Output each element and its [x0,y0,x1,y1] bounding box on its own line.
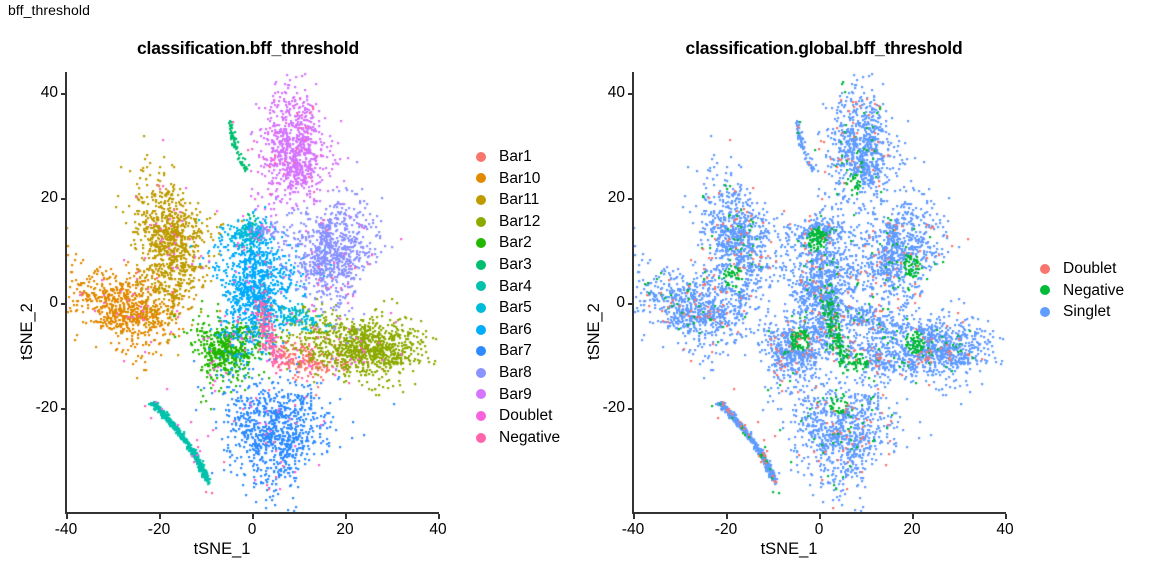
x-tick-mark [438,514,440,519]
legend-item[interactable]: Bar11 [476,189,560,211]
legend-item[interactable]: Negative [1040,280,1124,302]
plot-area-right [633,72,1005,513]
legend-color-dot [476,325,486,335]
y-axis-title-right: tSNE_2 [585,303,604,360]
legend-label: Bar1 [499,149,532,165]
legend-color-dot [476,260,486,270]
y-tick-mark [628,198,633,200]
tsne-figure: bff_threshold classification.bff_thresho… [0,0,1152,576]
panel-title-right: classification.global.bff_threshold [536,38,1112,59]
x-axis-title-right: tSNE_1 [761,540,818,559]
legend-color-dot [476,173,486,183]
x-tick-label: -20 [696,521,756,539]
y-axis-title-left: tSNE_2 [18,303,37,360]
legend-left: Bar1Bar10Bar11Bar12Bar2Bar3Bar4Bar5Bar6B… [476,146,560,448]
legend-label: Doublet [499,408,552,424]
x-tick-label: -40 [36,521,96,539]
legend-right: DoubletNegativeSinglet [1040,258,1124,323]
legend-label: Bar9 [499,387,532,403]
x-axis-title-left: tSNE_1 [194,540,251,559]
legend-item[interactable]: Bar10 [476,168,560,190]
legend-item[interactable]: Bar3 [476,254,560,276]
legend-color-dot [476,433,486,443]
legend-color-dot [476,303,486,313]
legend-label: Bar8 [499,365,532,381]
x-tick-mark [726,514,728,519]
y-tick-mark [61,198,66,200]
legend-item[interactable]: Bar9 [476,384,560,406]
y-tick-mark [61,408,66,410]
y-axis-line-right [632,72,634,514]
y-tick-label: 40 [12,84,58,102]
y-tick-mark [628,408,633,410]
y-axis-line-left [65,72,67,514]
legend-color-dot [476,368,486,378]
scatter-canvas-right [633,72,1005,513]
legend-label: Singlet [1063,304,1110,320]
legend-item[interactable]: Doublet [476,405,560,427]
legend-item[interactable]: Bar6 [476,319,560,341]
legend-label: Bar11 [499,192,539,208]
plot-area-left [66,72,438,513]
legend-label: Bar10 [499,171,540,187]
legend-item[interactable]: Bar12 [476,211,560,233]
legend-item[interactable]: Bar1 [476,146,560,168]
y-tick-label: 20 [579,189,625,207]
y-tick-mark [628,303,633,305]
panel-bff-threshold: classification.bff_threshold -2002040 -4… [0,0,576,576]
legend-item[interactable]: Bar4 [476,276,560,298]
x-tick-mark [345,514,347,519]
y-tick-label: -20 [579,399,625,417]
y-tick-label: 20 [12,189,58,207]
legend-item[interactable]: Bar7 [476,340,560,362]
legend-label: Negative [499,430,560,446]
legend-color-dot [476,152,486,162]
legend-item[interactable]: Bar2 [476,232,560,254]
legend-color-dot [476,217,486,227]
x-tick-label: 0 [789,521,849,539]
legend-label: Bar6 [499,322,532,338]
legend-label: Bar3 [499,257,532,273]
legend-color-dot [1040,307,1050,317]
legend-color-dot [476,281,486,291]
legend-color-dot [1040,285,1050,295]
legend-label: Bar2 [499,235,532,251]
x-tick-label: 20 [315,521,375,539]
panel-global-bff-threshold: classification.global.bff_threshold -200… [576,0,1152,576]
x-tick-label: -40 [603,521,663,539]
x-tick-mark [1005,514,1007,519]
legend-label: Doublet [1063,261,1116,277]
legend-label: Bar4 [499,279,532,295]
scatter-canvas-left [66,72,438,513]
panel-title-left: classification.bff_threshold [0,38,536,59]
x-tick-mark [159,514,161,519]
x-tick-mark [252,514,254,519]
legend-color-dot [1040,264,1050,274]
y-tick-label: 40 [579,84,625,102]
x-tick-mark [66,514,68,519]
legend-item[interactable]: Bar8 [476,362,560,384]
legend-item[interactable]: Doublet [1040,258,1124,280]
legend-item[interactable]: Singlet [1040,301,1124,323]
legend-item[interactable]: Bar5 [476,297,560,319]
x-tick-label: 20 [882,521,942,539]
legend-color-dot [476,389,486,399]
legend-item[interactable]: Negative [476,427,560,449]
x-tick-mark [912,514,914,519]
x-tick-label: 40 [408,521,468,539]
x-tick-label: 0 [222,521,282,539]
legend-color-dot [476,411,486,421]
legend-color-dot [476,346,486,356]
x-tick-mark [819,514,821,519]
legend-color-dot [476,238,486,248]
legend-color-dot [476,195,486,205]
legend-label: Bar7 [499,343,532,359]
legend-label: Bar5 [499,300,532,316]
y-tick-mark [61,303,66,305]
x-tick-label: 40 [975,521,1035,539]
legend-label: Bar12 [499,214,540,230]
x-tick-label: -20 [129,521,189,539]
x-tick-mark [633,514,635,519]
y-tick-mark [628,93,633,95]
y-tick-label: -20 [12,399,58,417]
y-tick-mark [61,93,66,95]
legend-label: Negative [1063,283,1124,299]
